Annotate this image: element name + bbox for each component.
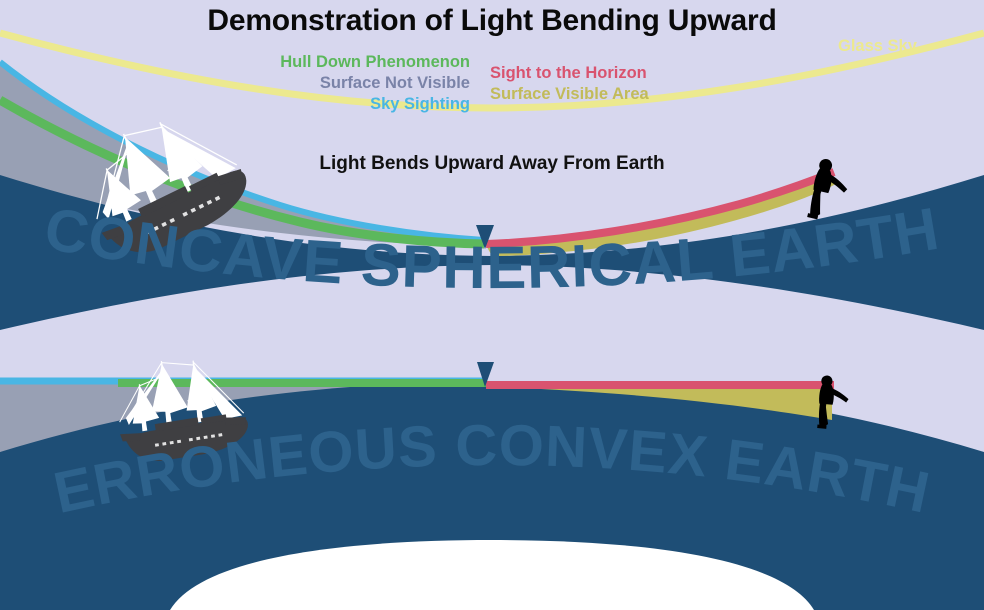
legend-item-surface-visible-area: Surface Visible Area <box>490 84 710 105</box>
legend-item-sky-sighting: Sky Sighting <box>150 94 470 115</box>
legend-left: Hull Down Phenomenon Surface Not Visible… <box>150 52 470 115</box>
legend-item-hull-down: Hull Down Phenomenon <box>150 52 470 73</box>
legend-right: Sight to the Horizon Surface Visible Are… <box>490 63 710 105</box>
page-title: Demonstration of Light Bending Upward <box>0 4 984 38</box>
legend-item-glass-sky: Glass Sky <box>838 37 917 56</box>
illustration-canvas: CONCAVE SPHERICAL EARTH <box>0 0 984 610</box>
legend-item-surface-not-visible: Surface Not Visible <box>150 73 470 94</box>
center-annotation: Light Bends Upward Away From Earth <box>0 153 984 175</box>
legend-item-sight-to-horizon: Sight to the Horizon <box>490 63 710 84</box>
